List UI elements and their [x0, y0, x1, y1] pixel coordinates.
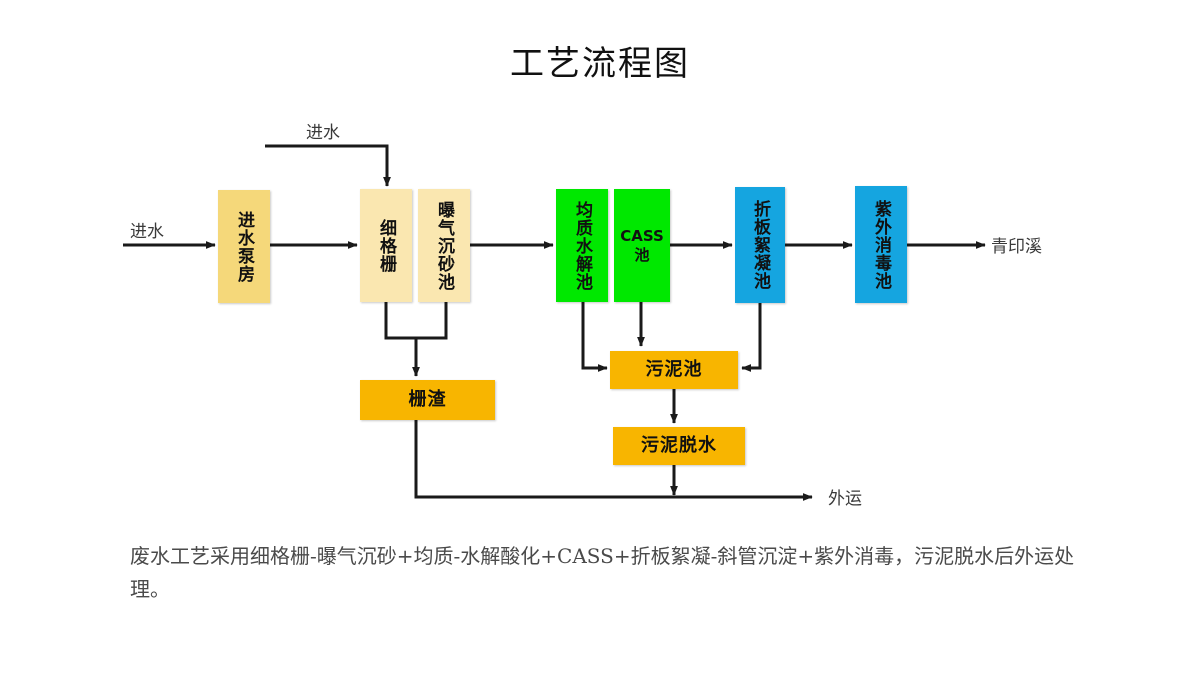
- node-cass-tank[interactable]: CASS 池: [614, 189, 670, 302]
- node-sludge-dewatering[interactable]: 污泥脱水: [613, 427, 745, 465]
- label-influent-left: 进水: [130, 217, 164, 242]
- label-influent-top: 进水: [306, 118, 340, 143]
- node-pump-house[interactable]: 进水泵房: [218, 190, 270, 303]
- node-uv-disinfection-tank[interactable]: 紫外消毒池: [855, 186, 907, 303]
- node-folded-plate-flocculation-tank[interactable]: 折板絮凝池: [735, 187, 785, 303]
- arrow-floc-to-sludge-pool: [742, 303, 760, 368]
- node-sludge-pool[interactable]: 污泥池: [610, 351, 738, 389]
- arrow-influent-top-to-fine-screen: [265, 146, 387, 186]
- caption-text: 废水工艺采用细格栅-曝气沉砂+均质-水解酸化+CASS+折板絮凝-斜管沉淀+紫外…: [130, 540, 1110, 606]
- node-homogenization-hydrolysis-tank[interactable]: 均质水解池: [556, 189, 608, 302]
- cass-tank-line-1: CASS: [620, 227, 664, 246]
- label-effluent-qingyinxi: 青印溪: [991, 232, 1042, 257]
- label-haul-away: 外运: [828, 484, 862, 509]
- node-aerated-grit-chamber[interactable]: 曝气沉砂池: [418, 189, 470, 302]
- line-screens-merge: [386, 302, 446, 338]
- arrow-hydrolysis-to-sludge-pool: [583, 302, 607, 368]
- slide-page: 工艺流程图: [0, 0, 1200, 675]
- cass-tank-line-2: 池: [634, 246, 649, 265]
- node-fine-screen[interactable]: 细格栅: [360, 189, 412, 302]
- node-screenings[interactable]: 栅渣: [360, 380, 495, 420]
